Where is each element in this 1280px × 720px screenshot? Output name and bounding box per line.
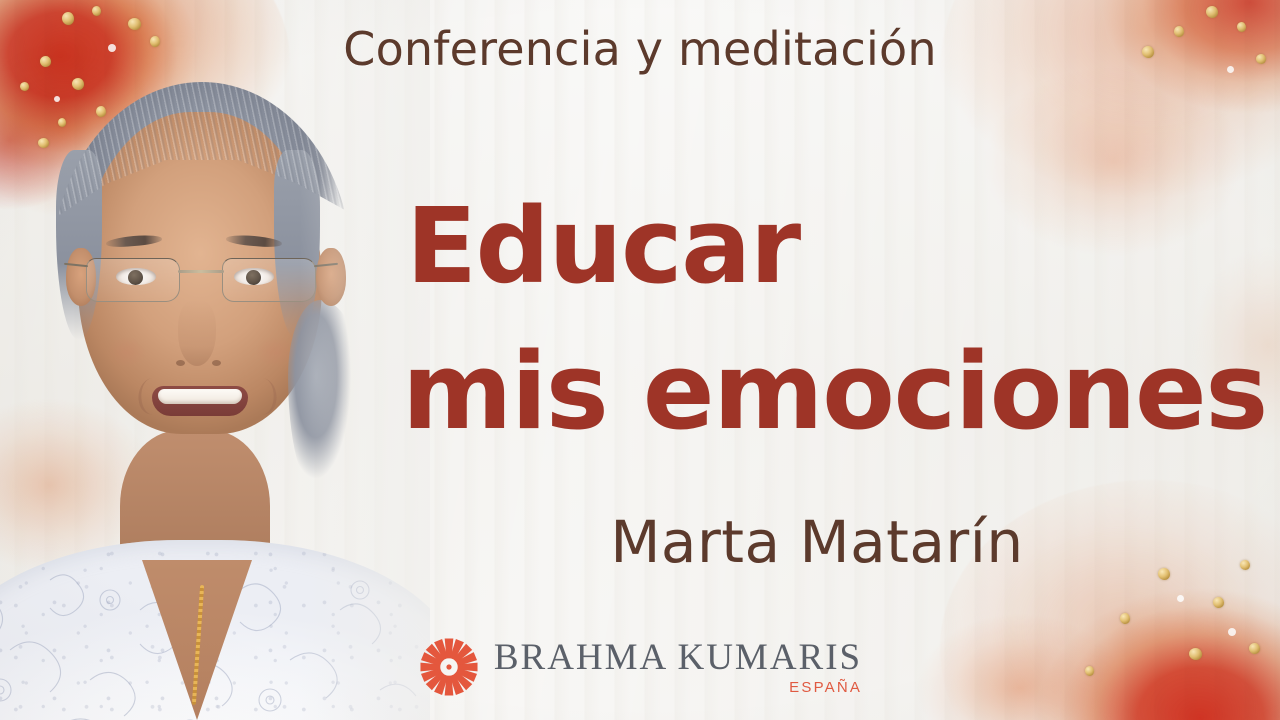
portrait-cheek-left [100, 330, 154, 374]
speckle-highlight [1228, 628, 1236, 636]
glasses-bridge [178, 270, 224, 273]
gold-speckle [1206, 6, 1218, 18]
speckle-highlight [1177, 595, 1184, 602]
event-title-line-1: Educar [406, 196, 1242, 298]
portrait-nose [178, 300, 216, 366]
gold-speckle [1213, 597, 1224, 608]
portrait-mouth [152, 386, 248, 416]
lens-left [86, 258, 180, 302]
speaker-portrait [0, 0, 430, 720]
sunburst-icon [418, 636, 480, 698]
speaker-name: Marta Matarín [392, 508, 1242, 576]
portrait-nostril-right [212, 360, 221, 366]
brand-logo: BRAHMA KUMARIS ESPAÑA [0, 636, 1280, 698]
brand-name: BRAHMA KUMARIS [494, 639, 862, 676]
portrait-teeth [158, 389, 242, 404]
eyeglasses-icon [86, 258, 316, 306]
brand-region: ESPAÑA [789, 680, 862, 695]
gold-speckle [1120, 613, 1130, 624]
event-promo-card: Conferencia y meditación Educar mis emoc… [0, 0, 1280, 720]
brand-logo-text: BRAHMA KUMARIS ESPAÑA [494, 639, 862, 695]
portrait-cheek-right [248, 330, 302, 374]
event-title: Educar mis emociones [392, 196, 1242, 444]
event-kicker: Conferencia y meditación [0, 22, 1280, 76]
event-title-line-2: mis emociones [402, 340, 1242, 444]
portrait-nostril-left [176, 360, 185, 366]
